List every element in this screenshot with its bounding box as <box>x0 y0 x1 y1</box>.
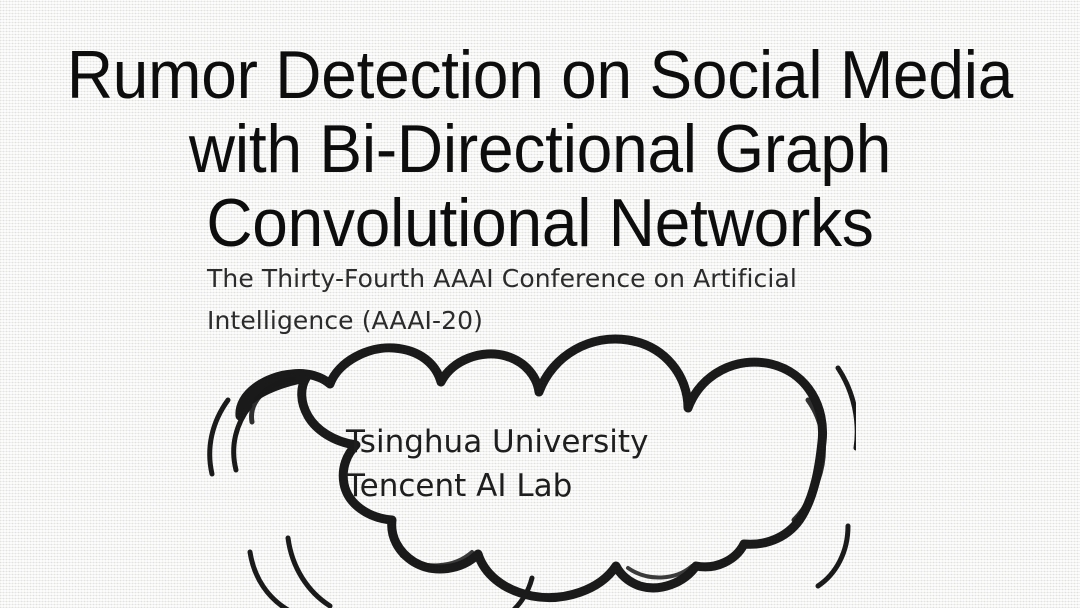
title-line-2: with Bi-Directional Graph <box>32 112 1047 186</box>
affiliation-line-1: Tsinghua University <box>346 420 766 464</box>
title-line-1: Rumor Detection on Social Media <box>32 38 1047 112</box>
motion-arc-bottom-left-outer <box>250 552 288 608</box>
subtitle-line-1: The Thirty-Fourth AAAI Conference on Art… <box>207 258 907 300</box>
presentation-title-slide: Rumor Detection on Social Media with Bi-… <box>0 0 1080 608</box>
page-title: Rumor Detection on Social Media with Bi-… <box>0 38 1080 260</box>
motion-arc-right-lower <box>818 526 848 586</box>
motion-arc-left-outer <box>210 400 228 474</box>
slide-content: Rumor Detection on Social Media with Bi-… <box>0 0 1080 608</box>
motion-arc-bottom-left-inner <box>288 538 330 606</box>
title-line-3: Convolutional Networks <box>32 186 1047 260</box>
affiliation-list: Tsinghua University Tencent AI Lab <box>346 420 766 508</box>
affiliation-line-2: Tencent AI Lab <box>346 464 766 508</box>
motion-arc-right-upper <box>838 368 856 448</box>
